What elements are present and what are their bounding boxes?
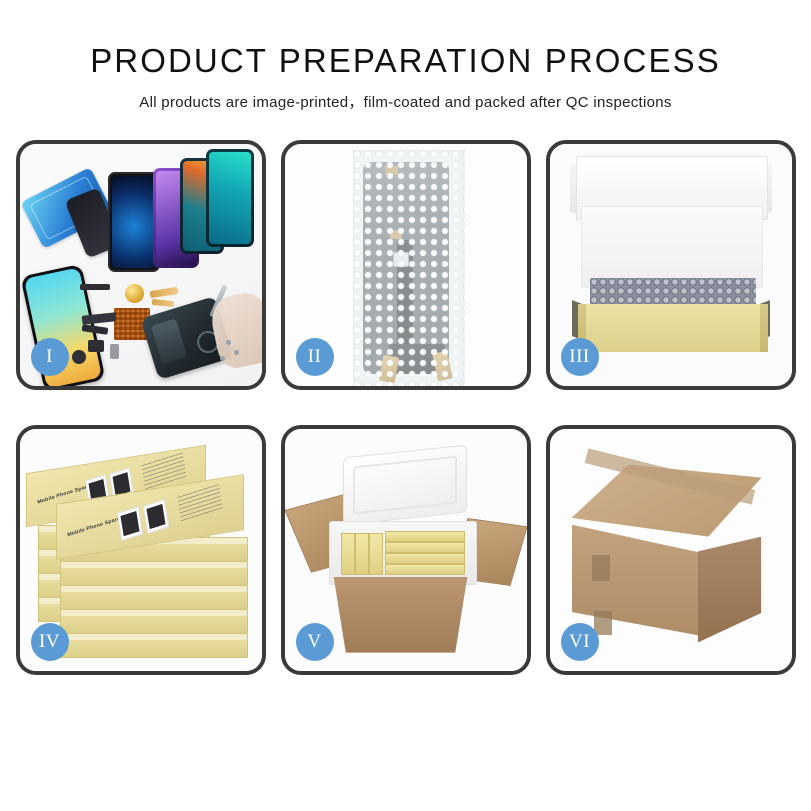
box-spec-lines <box>177 484 223 522</box>
page-subtitle: All products are image-printed，film-coat… <box>0 91 811 112</box>
tape-patch-upper <box>592 555 610 581</box>
product-box <box>385 564 465 575</box>
carton-side-face <box>698 537 784 643</box>
product-preparation-infographic: PRODUCT PREPARATION PROCESS All products… <box>0 0 811 811</box>
stacked-box-edge <box>60 561 248 586</box>
tape-patch-lower <box>594 611 612 635</box>
box-product-image <box>142 499 168 534</box>
foam-lid <box>343 444 467 525</box>
stacked-box-edge <box>60 633 248 658</box>
step-panel-1: I <box>16 140 266 390</box>
carton-front <box>325 577 477 653</box>
step-panel-6: VI <box>546 425 796 675</box>
box-product-image <box>116 506 142 541</box>
flex-cable-gold-2 <box>151 299 174 307</box>
flex-cable-gold-1 <box>149 286 178 297</box>
foam-liner <box>581 206 763 288</box>
step-badge-6: VI <box>561 623 599 661</box>
product-box <box>385 542 465 553</box>
stacked-box-edge <box>60 609 248 634</box>
step-panel-5: V <box>281 425 531 675</box>
page-title: PRODUCT PREPARATION PROCESS <box>0 44 811 79</box>
gold-component <box>125 284 144 303</box>
phone-display-teal <box>206 149 254 247</box>
screw <box>220 356 225 361</box>
carton-front-face <box>572 525 706 637</box>
phone-display-blue <box>108 172 160 272</box>
step-panel-4: Mobile Phone Spare Parts Mobile Phone Sp… <box>16 425 266 675</box>
bubble-film <box>353 150 465 386</box>
step-panel-3: III <box>546 140 796 390</box>
page-header: PRODUCT PREPARATION PROCESS All products… <box>0 0 811 112</box>
step-panel-2: II <box>281 140 531 390</box>
speaker-module <box>80 284 110 290</box>
product-box <box>369 533 383 575</box>
screw <box>234 350 239 355</box>
camera-module <box>88 340 104 352</box>
process-steps-grid: I II <box>16 140 796 675</box>
product-box <box>385 531 465 542</box>
step-badge-1: I <box>31 338 69 376</box>
step-badge-2: II <box>296 338 334 376</box>
step-badge-3: III <box>561 338 599 376</box>
battery-connector <box>110 344 119 359</box>
screw <box>226 340 231 345</box>
product-box <box>385 553 465 564</box>
step-badge-4: IV <box>31 623 69 661</box>
step-badge-5: V <box>296 623 334 661</box>
product-box <box>341 533 355 575</box>
product-boxes-inside <box>339 529 467 575</box>
taptic-module <box>72 350 86 364</box>
stacked-box-edge <box>60 585 248 610</box>
product-box <box>355 533 369 575</box>
box-base <box>578 304 768 352</box>
